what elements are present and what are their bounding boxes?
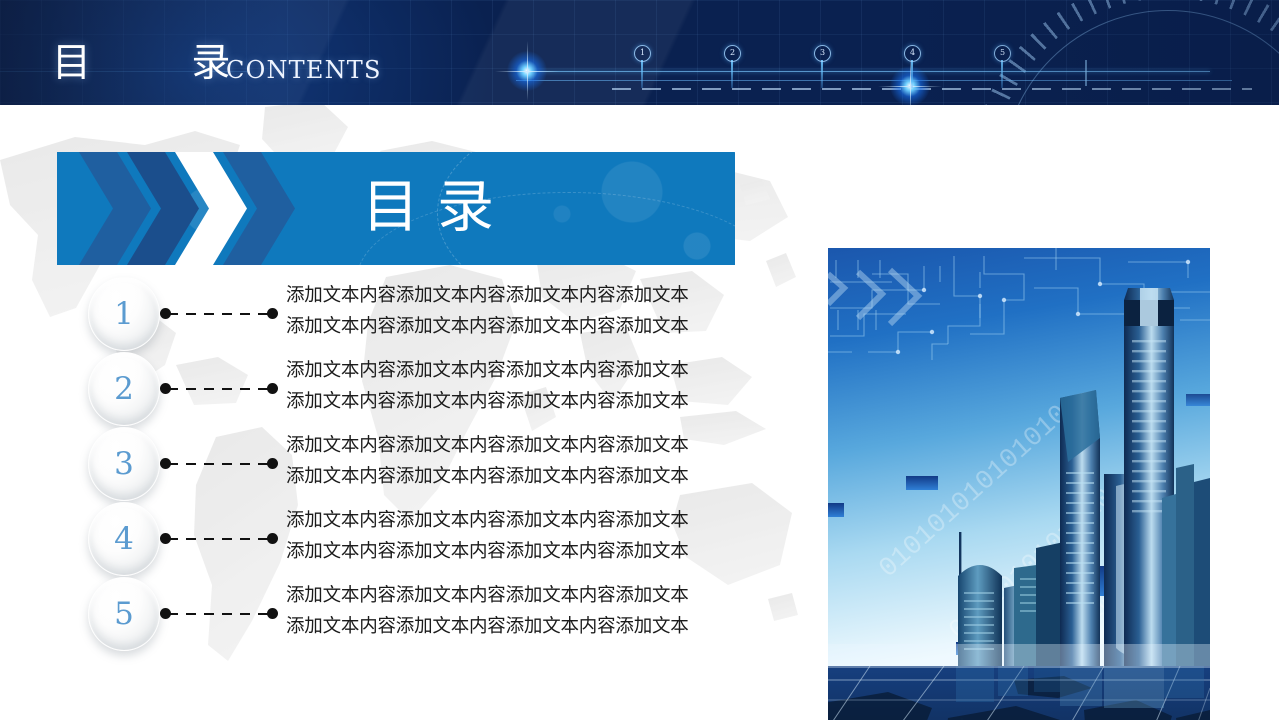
connector-dashed-line (168, 613, 270, 615)
dashed-connector (160, 454, 278, 474)
slide-header: 1 2 3 4 5 目 录 CONTENTS (0, 0, 1279, 105)
list-item-number: 2 (89, 353, 159, 425)
list-item-line-1: 添加文本内容添加文本内容添加文本内容添加文本 (286, 580, 716, 611)
list-item[interactable]: 2 添加文本内容添加文本内容添加文本内容添加文本 添加文本内容添加文本内容添加文… (0, 352, 760, 427)
chevron-icon-4 (223, 152, 295, 265)
list-item-number-badge[interactable]: 4 (88, 502, 160, 576)
list-item-line-2: 添加文本内容添加文本内容添加文本内容添加文本 (286, 311, 716, 342)
list-item-number-badge[interactable]: 3 (88, 427, 160, 501)
connector-dashed-line (168, 463, 270, 465)
list-item-line-2: 添加文本内容添加文本内容添加文本内容添加文本 (286, 611, 716, 642)
tech-city-image: 010101010101010 0101010101010 01010101 (828, 248, 1210, 720)
dashed-connector (160, 379, 278, 399)
connector-dashed-line (168, 388, 270, 390)
list-item-line-1: 添加文本内容添加文本内容添加文本内容添加文本 (286, 280, 716, 311)
list-item-line-1: 添加文本内容添加文本内容添加文本内容添加文本 (286, 505, 716, 536)
connector-knob-right (267, 308, 278, 319)
list-item-line-2: 添加文本内容添加文本内容添加文本内容添加文本 (286, 536, 716, 567)
connector-knob-right (267, 533, 278, 544)
list-item-line-2: 添加文本内容添加文本内容添加文本内容添加文本 (286, 461, 716, 492)
list-item[interactable]: 1 添加文本内容添加文本内容添加文本内容添加文本 添加文本内容添加文本内容添加文… (0, 277, 760, 352)
list-item-number-badge[interactable]: 2 (88, 352, 160, 426)
list-item-number: 5 (89, 578, 159, 650)
header-title-en: CONTENTS (226, 56, 382, 84)
connector-dashed-line (168, 313, 270, 315)
slide-body: 目录 1 添加文本内容添加文本内容添加文本内容添加文本 添加文本内容添加文本内容… (0, 105, 1279, 720)
list-item-number-badge[interactable]: 1 (88, 277, 160, 351)
list-item-number: 1 (89, 278, 159, 350)
list-item[interactable]: 4 添加文本内容添加文本内容添加文本内容添加文本 添加文本内容添加文本内容添加文… (0, 502, 760, 577)
list-item-number: 4 (89, 503, 159, 575)
list-item-line-1: 添加文本内容添加文本内容添加文本内容添加文本 (286, 355, 716, 386)
connector-knob-right (267, 458, 278, 469)
contents-list: 1 添加文本内容添加文本内容添加文本内容添加文本 添加文本内容添加文本内容添加文… (0, 277, 760, 652)
list-item-line-1: 添加文本内容添加文本内容添加文本内容添加文本 (286, 430, 716, 461)
dashed-connector (160, 604, 278, 624)
connector-knob-right (267, 383, 278, 394)
banner-title-text: 目录 (362, 168, 512, 246)
connector-dashed-line (168, 538, 270, 540)
list-item-line-2: 添加文本内容添加文本内容添加文本内容添加文本 (286, 386, 716, 417)
connector-knob-right (267, 608, 278, 619)
list-item-number-badge[interactable]: 5 (88, 577, 160, 651)
list-item[interactable]: 3 添加文本内容添加文本内容添加文本内容添加文本 添加文本内容添加文本内容添加文… (0, 427, 760, 502)
section-title-banner: 目录 (57, 152, 735, 265)
dashed-connector (160, 304, 278, 324)
list-item-number: 3 (89, 428, 159, 500)
dashed-connector (160, 529, 278, 549)
list-item[interactable]: 5 添加文本内容添加文本内容添加文本内容添加文本 添加文本内容添加文本内容添加文… (0, 577, 760, 652)
